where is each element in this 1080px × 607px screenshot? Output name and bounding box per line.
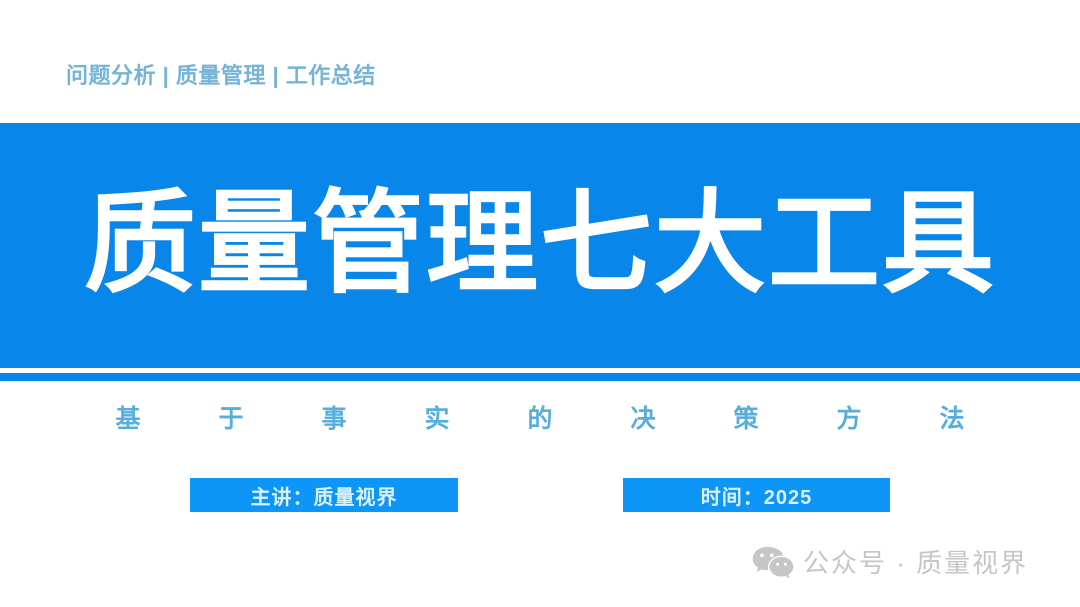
title-banner: 质量管理七大工具 xyxy=(0,123,1080,368)
watermark-label: 公众号 · 质量视界 xyxy=(803,546,1028,580)
date-badge-label: 时间：2025 xyxy=(701,481,813,510)
date-badge: 时间：2025 xyxy=(623,478,890,512)
accent-divider-rule xyxy=(0,373,1080,381)
speaker-badge-label: 主讲：质量视界 xyxy=(251,481,398,510)
slide-subtitle: 基于事实的决策方法 xyxy=(0,402,1080,436)
wechat-icon xyxy=(752,545,794,581)
slide-eyebrow-topics: 问题分析 | 质量管理 | 工作总结 xyxy=(66,60,376,92)
presentation-slide: 问题分析 | 质量管理 | 工作总结 质量管理七大工具 基于事实的决策方法 主讲… xyxy=(0,0,1080,607)
watermark: 公众号 · 质量视界 xyxy=(752,545,1028,581)
speaker-badge: 主讲：质量视界 xyxy=(190,478,458,512)
slide-title: 质量管理七大工具 xyxy=(84,188,996,300)
